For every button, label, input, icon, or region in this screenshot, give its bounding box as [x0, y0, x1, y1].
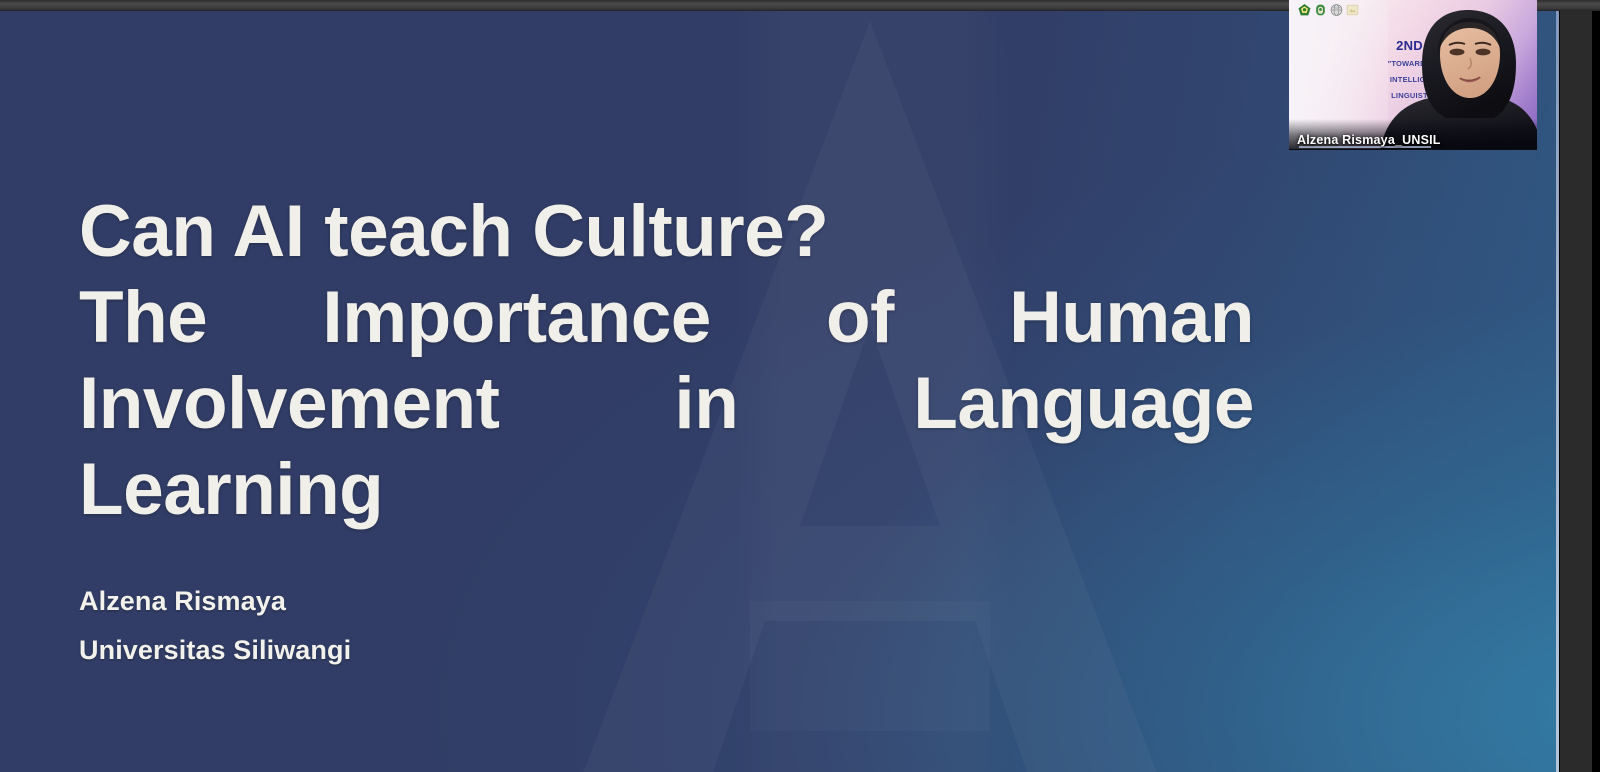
title-line-3: Involvement in Language: [79, 361, 1254, 447]
title-line-1: Can AI teach Culture?: [79, 189, 1254, 275]
institution-emblem-icon: [1314, 3, 1327, 17]
speaker-video-tile[interactable]: 2ND E "TOWARDS UN INTELLIGENC LINGUISTIC…: [1289, 0, 1537, 150]
slide-byline: Alzena Rismaya Universitas Siliwangi: [79, 577, 779, 675]
title-line-4: Learning: [79, 447, 1254, 533]
screen-root: Can AI teach Culture? The Importance of …: [0, 0, 1600, 772]
stage-right-gutter: [1560, 11, 1592, 772]
title-line-2: The Importance of Human: [79, 275, 1254, 361]
author-affiliation: Universitas Siliwangi: [79, 626, 779, 675]
partner-logo-icon: [1346, 3, 1359, 17]
slide-right-edge: [1556, 11, 1559, 772]
author-name: Alzena Rismaya: [79, 577, 779, 626]
participant-name-label: Alzena Rismaya_UNSIL: [1297, 133, 1441, 147]
slide-title: Can AI teach Culture? The Importance of …: [79, 189, 1254, 533]
university-seal-green-icon: [1298, 3, 1311, 17]
globe-emblem-icon: [1330, 3, 1343, 17]
backdrop-emblem-row: [1298, 3, 1359, 17]
